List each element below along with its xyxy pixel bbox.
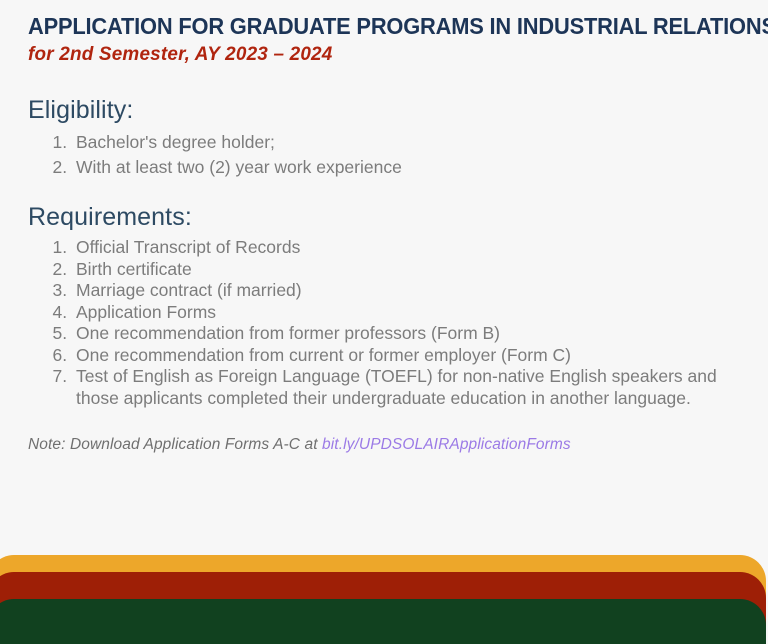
eligibility-section: Eligibility: Bachelor's degree holder; W… (28, 96, 744, 181)
list-item: Test of English as Foreign Language (TOE… (72, 366, 744, 409)
note-section: Note: Download Application Forms A-C at … (28, 436, 744, 454)
footer-band-green (0, 599, 766, 644)
page-subtitle: for 2nd Semester, AY 2023 – 2024 (28, 42, 719, 66)
requirements-section: Requirements: Official Transcript of Rec… (28, 203, 744, 409)
footer-band-group (0, 534, 768, 644)
page-title: APPLICATION FOR GRADUATE PROGRAMS IN IND… (28, 14, 690, 39)
header: APPLICATION FOR GRADUATE PROGRAMS IN IND… (28, 14, 740, 66)
eligibility-heading: Eligibility: (28, 96, 744, 124)
application-forms-link[interactable]: bit.ly/UPDSOLAIRApplicationForms (322, 436, 571, 453)
list-item: Official Transcript of Records (72, 237, 744, 259)
list-item: With at least two (2) year work experien… (72, 155, 744, 180)
slide-canvas: APPLICATION FOR GRADUATE PROGRAMS IN IND… (0, 0, 768, 644)
note-text: Note: Download Application Forms A-C at … (28, 436, 744, 454)
list-item: Birth certificate (72, 259, 744, 281)
requirements-heading: Requirements: (28, 203, 744, 231)
list-item: Bachelor's degree holder; (72, 130, 744, 155)
list-item: Marriage contract (if married) (72, 280, 744, 302)
eligibility-list: Bachelor's degree holder; With at least … (28, 130, 744, 181)
list-item: Application Forms (72, 302, 744, 324)
list-item: One recommendation from current or forme… (72, 345, 744, 367)
note-prefix: Note: Download Application Forms A-C at (28, 436, 322, 453)
requirements-list: Official Transcript of Records Birth cer… (28, 237, 744, 409)
list-item: One recommendation from former professor… (72, 323, 744, 345)
